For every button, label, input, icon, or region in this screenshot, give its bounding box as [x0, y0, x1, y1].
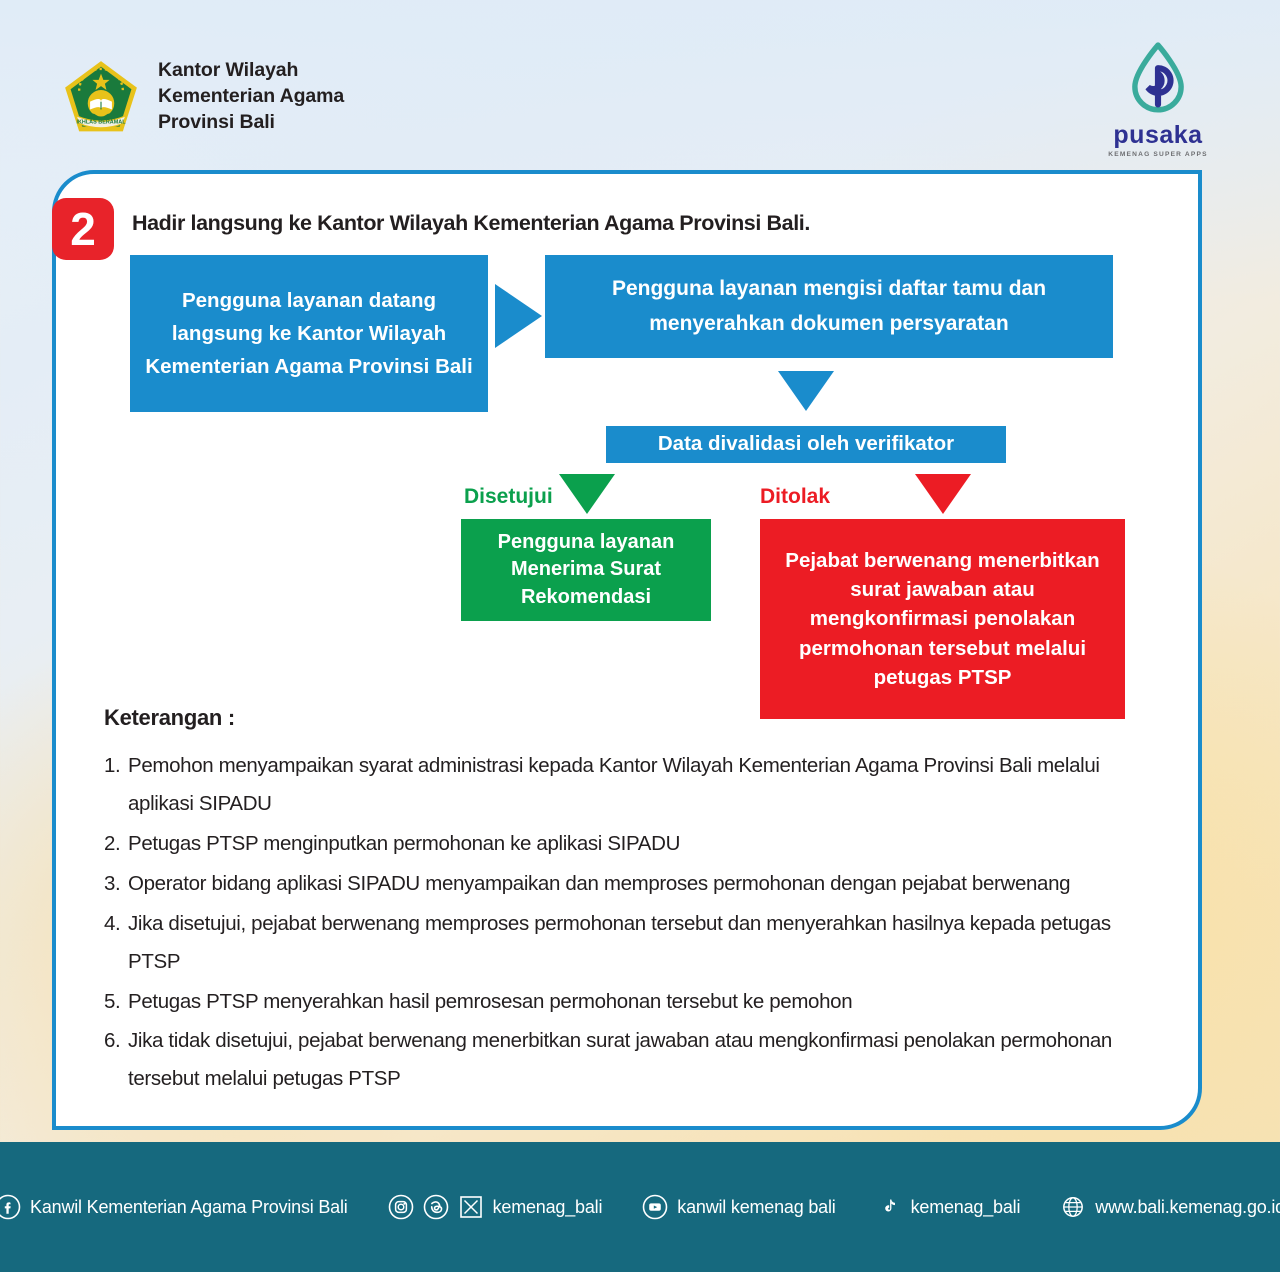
page-header: IKHLAS BERAMAL Kantor Wilayah Kementeria…	[0, 0, 1280, 160]
threads-icon	[423, 1194, 449, 1220]
notes-section: Keterangan : 1.Pemohon menyampaikan syar…	[104, 705, 1164, 1100]
flow-box-rejected: Pejabat berwenang menerbitkan surat jawa…	[760, 519, 1125, 719]
note-number: 2.	[104, 825, 128, 863]
facebook-icon	[0, 1194, 21, 1220]
note-item: 6.Jika tidak disetujui, pejabat berwenan…	[104, 1022, 1164, 1098]
youtube-icon	[642, 1194, 668, 1220]
footer-youtube[interactable]: kanwil kemenag bali	[622, 1194, 855, 1220]
arrow-down-triangle-rejected-icon	[915, 474, 971, 514]
globe-icon	[1060, 1194, 1086, 1220]
branch-label-rejected: Ditolak	[760, 485, 830, 509]
note-item: 4.Jika disetujui, pejabat berwenang memp…	[104, 905, 1164, 981]
footer-social-handles[interactable]: kemenag_bali	[368, 1194, 623, 1220]
footer-facebook[interactable]: Kanwil Kementerian Agama Provinsi Bali	[0, 1194, 368, 1220]
x-twitter-icon	[458, 1194, 484, 1220]
note-number: 3.	[104, 865, 128, 903]
note-number: 4.	[104, 905, 128, 981]
footer-website[interactable]: www.bali.kemenag.go.id	[1040, 1194, 1280, 1220]
pusaka-droplet-logo-icon	[1127, 103, 1189, 120]
branch-label-approved: Disetujui	[464, 485, 553, 509]
step-title: Hadir langsung ke Kantor Wilayah Kemente…	[132, 211, 810, 236]
flow-box-arrive: Pengguna layanan datang langsung ke Kant…	[130, 255, 488, 412]
brand-line-2: Kementerian Agama	[158, 84, 344, 110]
tiktok-icon	[876, 1194, 902, 1220]
notes-title: Keterangan :	[104, 705, 1164, 731]
pusaka-tagline: KEMENAG SUPER APPS	[1098, 151, 1218, 158]
note-number: 5.	[104, 983, 128, 1021]
brand-block: IKHLAS BERAMAL Kantor Wilayah Kementeria…	[62, 58, 344, 136]
instagram-icon	[388, 1194, 414, 1220]
flow-box-validate: Data divalidasi oleh verifikator	[606, 426, 1006, 463]
footer-youtube-label: kanwil kemenag bali	[677, 1197, 835, 1218]
note-item: 2.Petugas PTSP menginputkan permohonan k…	[104, 825, 1164, 863]
kemenag-pentagon-emblem-icon: IKHLAS BERAMAL	[62, 58, 140, 136]
note-item: 1.Pemohon menyampaikan syarat administra…	[104, 747, 1164, 823]
brand-line-3: Provinsi Bali	[158, 110, 344, 136]
pusaka-wordmark: pusaka	[1098, 123, 1218, 148]
arrow-down-triangle-approved-icon	[559, 474, 615, 514]
note-number: 6.	[104, 1022, 128, 1098]
footer-bar: Kanwil Kementerian Agama Provinsi Bali	[0, 1142, 1280, 1272]
arrow-right-triangle-icon	[495, 284, 542, 348]
notes-list: 1.Pemohon menyampaikan syarat administra…	[104, 747, 1164, 1098]
flow-box-register: Pengguna layanan mengisi daftar tamu dan…	[545, 255, 1113, 358]
step-number-badge: 2	[52, 198, 114, 260]
svg-text:IKHLAS BERAMAL: IKHLAS BERAMAL	[76, 120, 126, 126]
note-text: Pemohon menyampaikan syarat administrasi…	[128, 747, 1164, 823]
brand-title: Kantor Wilayah Kementerian Agama Provins…	[158, 58, 344, 135]
note-item: 5.Petugas PTSP menyerahkan hasil pemrose…	[104, 983, 1164, 1021]
arrow-down-triangle-icon	[778, 371, 834, 411]
flow-box-approved: Pengguna layanan Menerima Surat Rekomend…	[461, 519, 711, 621]
note-number: 1.	[104, 747, 128, 823]
footer-tiktok[interactable]: kemenag_bali	[856, 1194, 1041, 1220]
note-text: Operator bidang aplikasi SIPADU menyampa…	[128, 865, 1164, 903]
brand-line-1: Kantor Wilayah	[158, 58, 344, 84]
footer-website-label: www.bali.kemenag.go.id	[1095, 1197, 1280, 1218]
pusaka-logo: pusaka KEMENAG SUPER APPS	[1098, 42, 1218, 158]
note-text: Jika tidak disetujui, pejabat berwenang …	[128, 1022, 1164, 1098]
note-text: Petugas PTSP menyerahkan hasil pemrosesa…	[128, 983, 1164, 1021]
note-text: Jika disetujui, pejabat berwenang mempro…	[128, 905, 1164, 981]
footer-social-label: kemenag_bali	[493, 1197, 603, 1218]
footer-facebook-label: Kanwil Kementerian Agama Provinsi Bali	[30, 1197, 348, 1218]
note-text: Petugas PTSP menginputkan permohonan ke …	[128, 825, 1164, 863]
footer-tiktok-label: kemenag_bali	[911, 1197, 1021, 1218]
note-item: 3.Operator bidang aplikasi SIPADU menyam…	[104, 865, 1164, 903]
